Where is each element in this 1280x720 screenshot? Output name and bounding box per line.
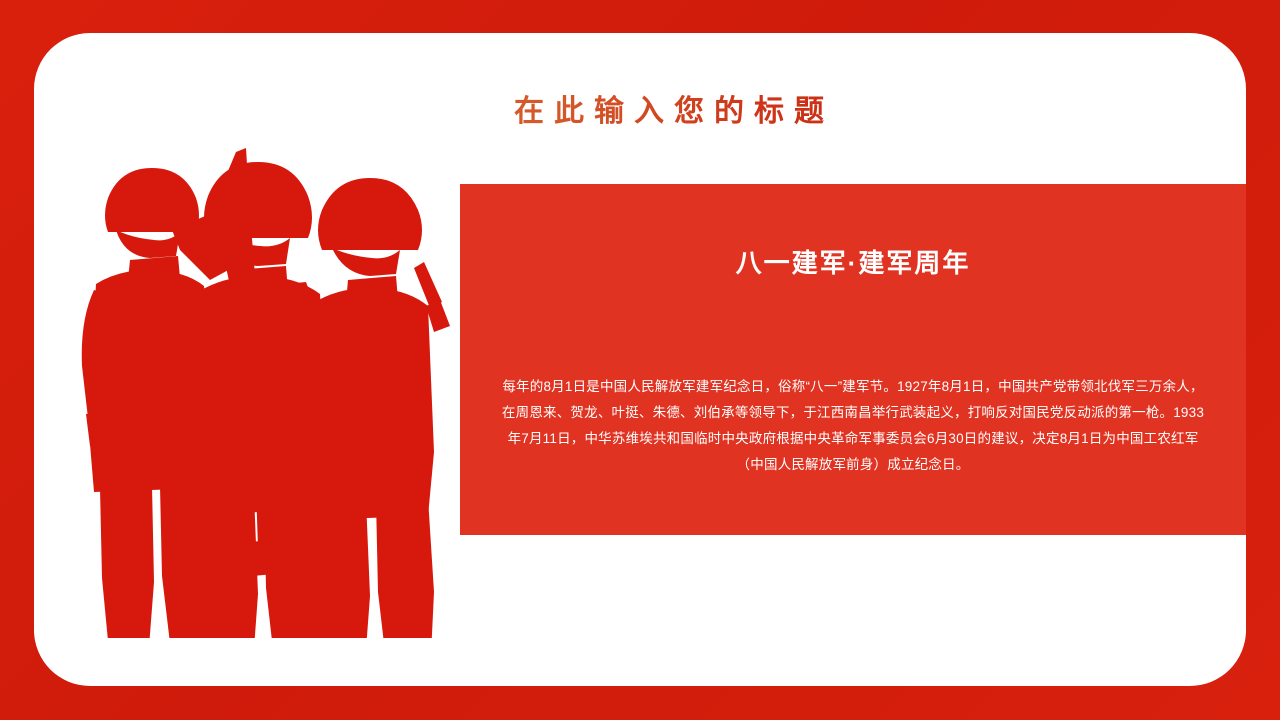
panel-body-text: 每年的8月1日是中国人民解放军建军纪念日，俗称“八一”建军节。1927年8月1日… xyxy=(498,374,1208,478)
three-soldiers-silhouette-icon xyxy=(60,118,460,638)
content-panel: 八一建军·建军周年 每年的8月1日是中国人民解放军建军纪念日，俗称“八一”建军节… xyxy=(460,184,1246,535)
content-card: 在此输入您的标题 xyxy=(34,33,1246,686)
slide-canvas: 在此输入您的标题 xyxy=(0,0,1280,720)
panel-heading: 八一建军·建军周年 xyxy=(460,243,1246,280)
